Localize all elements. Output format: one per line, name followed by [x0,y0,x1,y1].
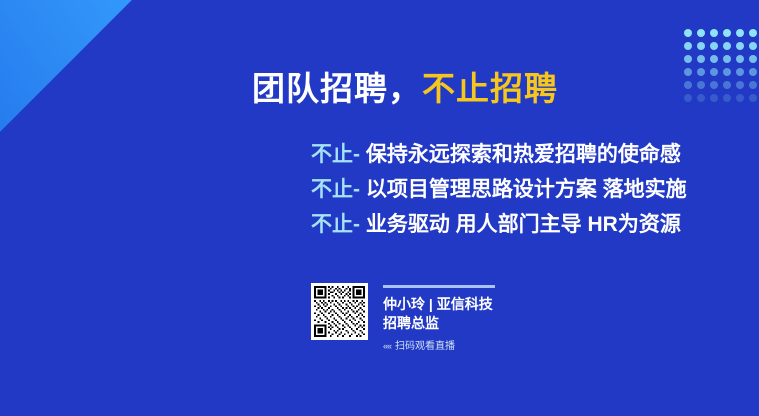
diagonal-bar-decoration [0,0,185,180]
dot-icon [710,29,718,37]
page-title-primary: 团队招聘， [252,70,422,107]
speaker-text: 仲小玲 | 亚信科技 招聘总监 «« 扫码观看直播 [383,283,495,353]
dot-icon [749,42,757,50]
live-hint: «« 扫码观看直播 [383,340,495,353]
bullet-text: 以项目管理思路设计方案 落地实施 [366,178,687,201]
dot-icon [749,29,757,37]
page-title: 团队招聘，不止招聘 [252,70,558,108]
dot-icon [749,55,757,63]
dot-icon [736,42,744,50]
dot-grid-decoration [681,26,759,104]
dot-icon [723,94,731,102]
bullet-tag: 不止- [311,213,360,236]
dot-icon [723,29,731,37]
page-title-accent: 不止招聘 [422,70,558,107]
dot-icon [684,55,692,63]
dot-icon [697,55,705,63]
dot-icon [710,42,718,50]
dot-icon [697,29,705,37]
dot-icon [684,42,692,50]
dot-icon [697,81,705,89]
bullet-tag: 不止- [311,178,360,201]
dot-icon [723,68,731,76]
live-hint-label: 扫码观看直播 [395,340,455,353]
speaker-info-block: 仲小玲 | 亚信科技 招聘总监 «« 扫码观看直播 [311,283,495,353]
bullet-tag: 不止- [311,143,360,166]
dot-icon [736,81,744,89]
dot-icon [736,94,744,102]
dot-icon [736,68,744,76]
dot-icon [749,68,757,76]
dot-icon [723,81,731,89]
dot-icon [710,94,718,102]
bullet-list: 不止- 保持永远探索和热爱招聘的使命感 不止- 以项目管理思路设计方案 落地实施… [311,139,687,244]
dot-icon [697,68,705,76]
list-item: 不止- 以项目管理思路设计方案 落地实施 [311,174,687,205]
dot-icon [736,55,744,63]
dot-icon [723,55,731,63]
dot-icon [749,94,757,102]
dot-icon [697,42,705,50]
promo-poster: 团队招聘，不止招聘 不止- 保持永远探索和热爱招聘的使命感 不止- 以项目管理思… [0,0,759,416]
dot-icon [710,81,718,89]
bullet-text: 保持永远探索和热爱招聘的使命感 [366,143,681,166]
bullet-text: 业务驱动 用人部门主导 HR为资源 [366,213,681,236]
dot-icon [736,29,744,37]
dot-icon [684,68,692,76]
dot-icon [710,55,718,63]
dot-icon [684,94,692,102]
double-chevron-left-icon: «« [383,340,391,353]
divider [383,285,495,288]
list-item: 不止- 保持永远探索和热爱招聘的使命感 [311,139,687,170]
dot-icon [697,94,705,102]
dot-icon [710,68,718,76]
dot-icon [684,81,692,89]
qr-code-icon[interactable] [311,283,368,340]
list-item: 不止- 业务驱动 用人部门主导 HR为资源 [311,209,687,240]
speaker-role: 招聘总监 [383,314,495,333]
dot-icon [749,81,757,89]
dot-icon [684,29,692,37]
dot-icon [723,42,731,50]
speaker-name: 仲小玲 | 亚信科技 [383,295,495,314]
